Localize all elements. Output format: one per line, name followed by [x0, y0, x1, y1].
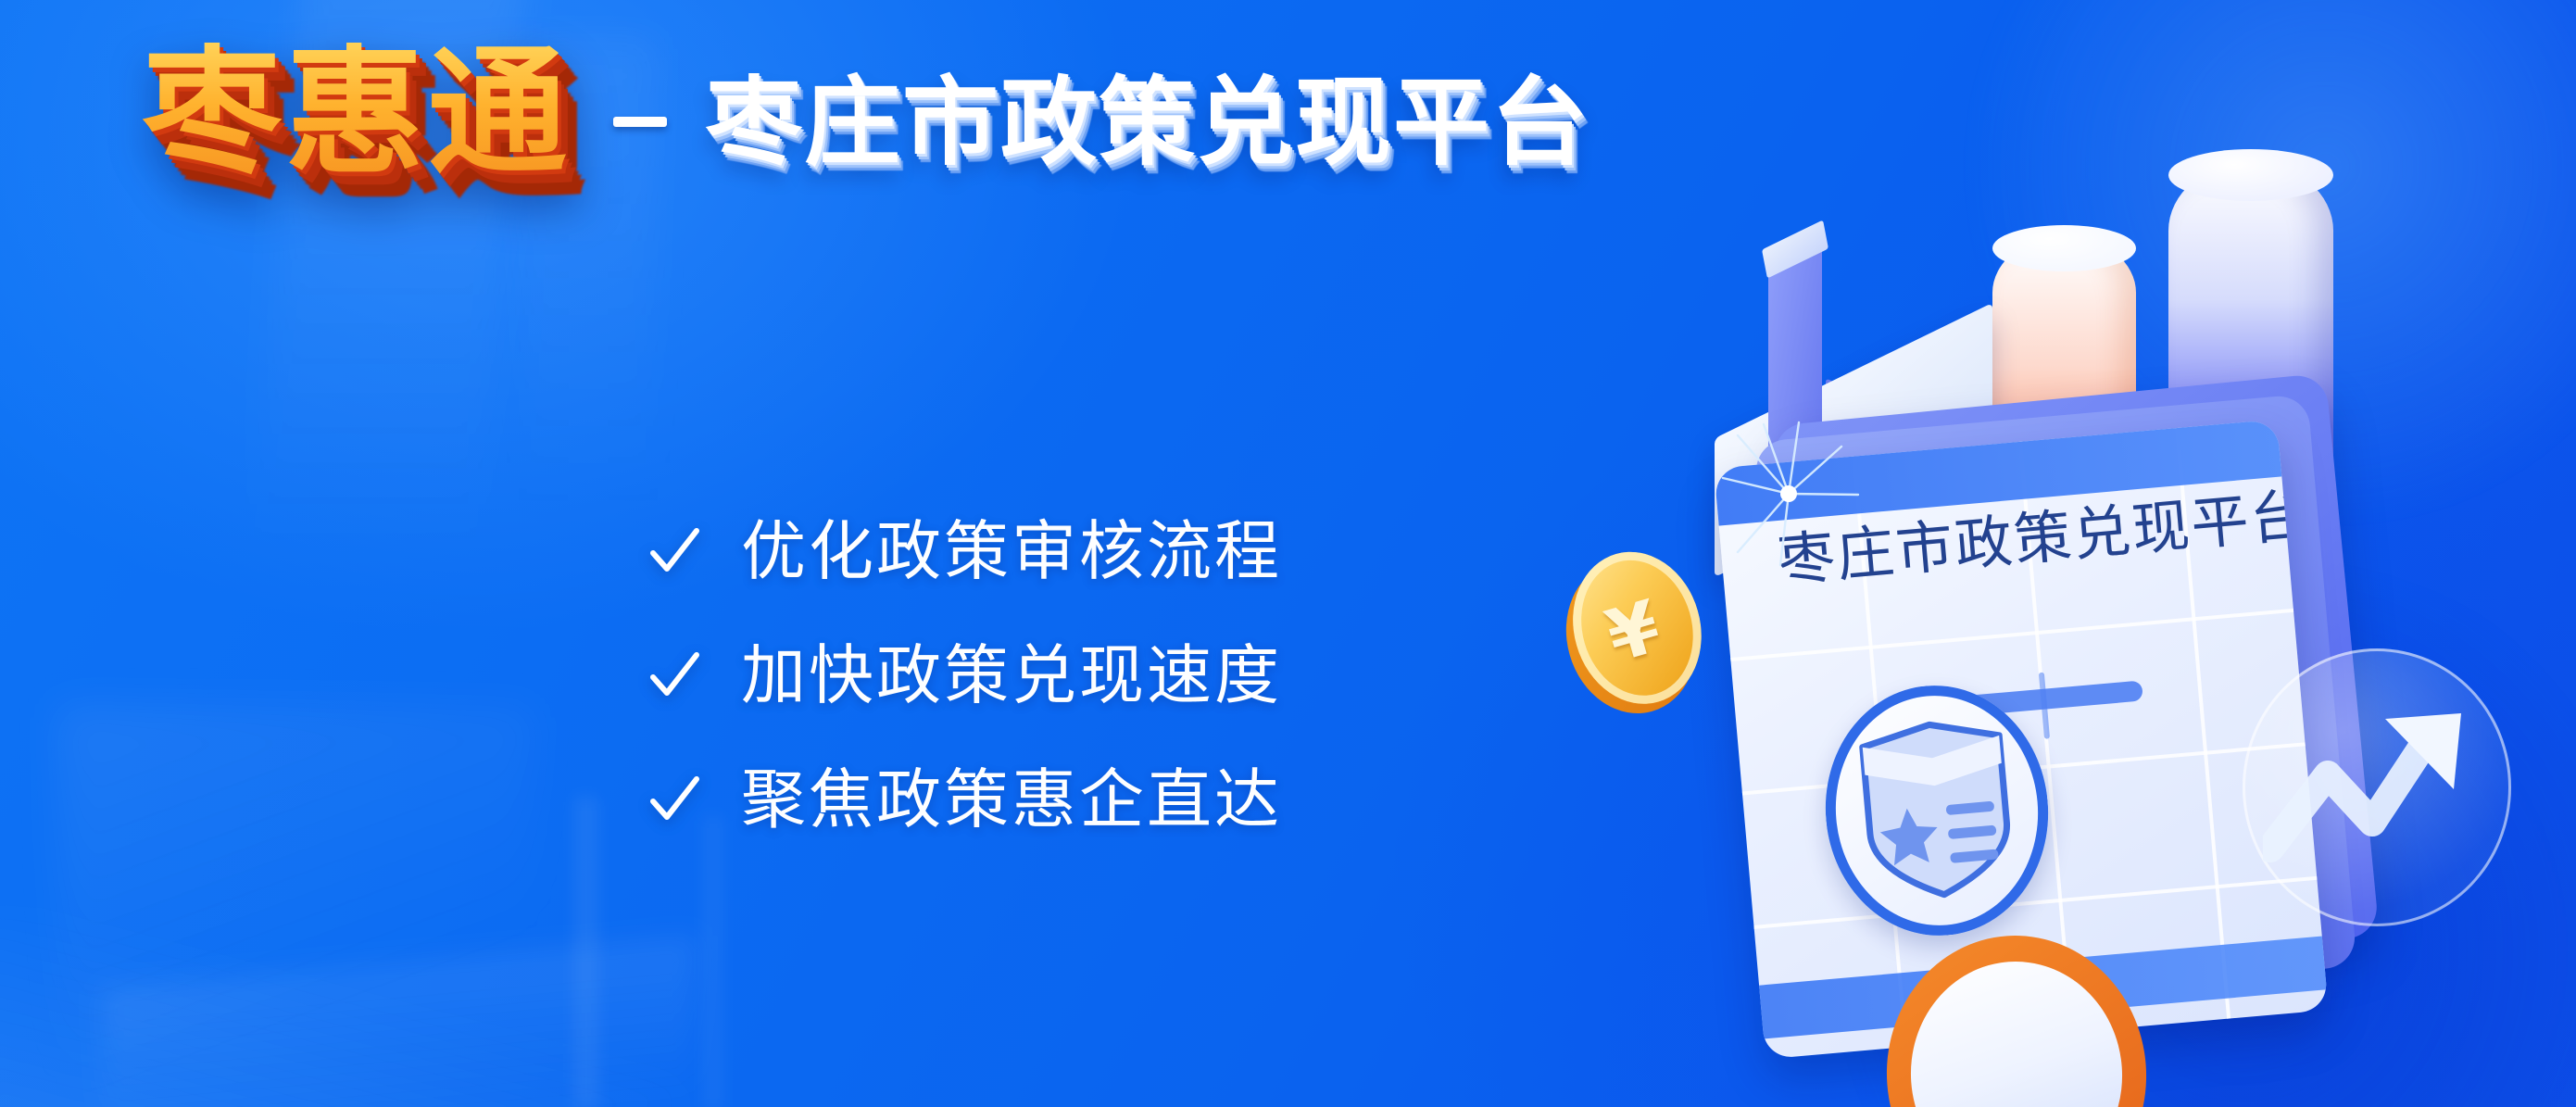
growth-arrow-icon	[2243, 648, 2511, 926]
background-building-shape-c	[56, 704, 537, 1107]
sparkle-icon	[1710, 415, 1867, 572]
bar-chart-cylinder-blue-top	[2168, 149, 2333, 201]
policy-platform-banner: 枣惠通 枣庄市政策兑现平台 优化政策审核流程 加快政策兑现速度	[0, 0, 2576, 1107]
feature-label: 聚焦政策惠企直达	[741, 767, 1282, 832]
background-slab-shape	[102, 937, 695, 1107]
check-icon	[648, 649, 700, 701]
coin-yen-icon: ¥	[1547, 536, 1722, 730]
feature-label: 优化政策审核流程	[741, 519, 1282, 584]
title-separator-dash	[613, 117, 667, 127]
background-column-2	[704, 815, 723, 1107]
brand-name-title: 枣惠通	[139, 43, 574, 184]
check-icon	[648, 525, 700, 577]
background-ramp-shape	[0, 838, 681, 1107]
feature-item: 加快政策兑现速度	[648, 643, 1282, 708]
bar-chart-cylinder-orange-top	[1992, 225, 2136, 271]
feature-label: 加快政策兑现速度	[741, 643, 1282, 708]
check-icon	[648, 774, 700, 825]
shield-star-badge-icon	[1816, 676, 2059, 945]
magnifier-ring-icon	[1878, 927, 2155, 1107]
hero-illustration: 枣庄市政策兑现平台 ¥	[1557, 0, 2576, 1107]
background-column-1	[574, 797, 598, 1107]
platform-name-title: 枣庄市政策兑现平台	[706, 72, 1590, 173]
feature-item: 聚焦政策惠企直达	[648, 767, 1282, 832]
banner-headline: 枣惠通 枣庄市政策兑现平台	[139, 43, 1590, 184]
feature-list: 优化政策审核流程 加快政策兑现速度 聚焦政策惠企直达	[648, 519, 1282, 832]
feature-item: 优化政策审核流程	[648, 519, 1282, 584]
